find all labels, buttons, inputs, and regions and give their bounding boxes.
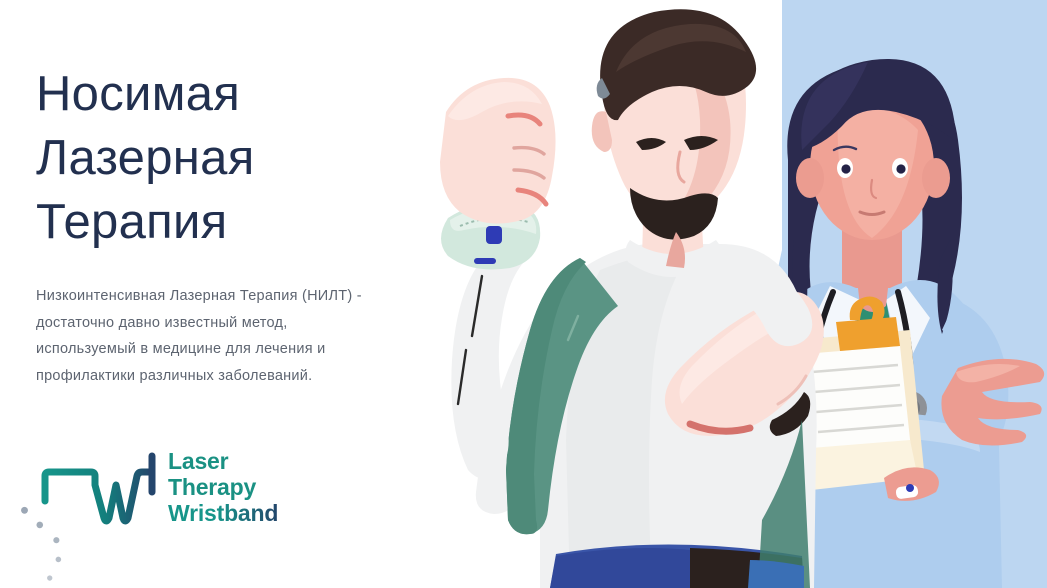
brand-logo-text: Laser Therapy Wristband bbox=[168, 448, 278, 526]
decor-dot bbox=[21, 507, 28, 514]
doctor-and-patient-illustration bbox=[390, 0, 1047, 588]
page-title: Носимая Лазерная Терапия bbox=[36, 62, 426, 254]
decor-dot bbox=[47, 575, 52, 580]
patient-fist bbox=[440, 78, 556, 224]
doctor-ear-left bbox=[796, 158, 824, 198]
logo-line-laser: Laser bbox=[168, 448, 278, 474]
decor-dot bbox=[56, 557, 62, 563]
doctor-ear-right bbox=[922, 158, 950, 198]
decor-dot bbox=[36, 522, 43, 529]
body-paragraph: Низкоинтенсивная Лазерная Терапия (НИЛТ)… bbox=[36, 283, 391, 389]
patient-figure bbox=[440, 9, 824, 588]
decorative-dot-arc bbox=[0, 505, 130, 588]
decor-dot bbox=[53, 537, 59, 543]
doctor-pupil-left bbox=[841, 164, 850, 173]
logo-line-therapy: Therapy bbox=[168, 474, 278, 500]
logo-line-wristband: Wristband bbox=[168, 500, 278, 526]
doctor-pupil-right bbox=[896, 164, 905, 173]
patient-jeans-shade bbox=[550, 548, 690, 588]
headline-block: Носимая Лазерная Терапия bbox=[36, 62, 426, 254]
slide-canvas: Носимая Лазерная Терапия Низкоинтенсивна… bbox=[0, 0, 1047, 588]
clipboard-clip bbox=[836, 317, 900, 351]
